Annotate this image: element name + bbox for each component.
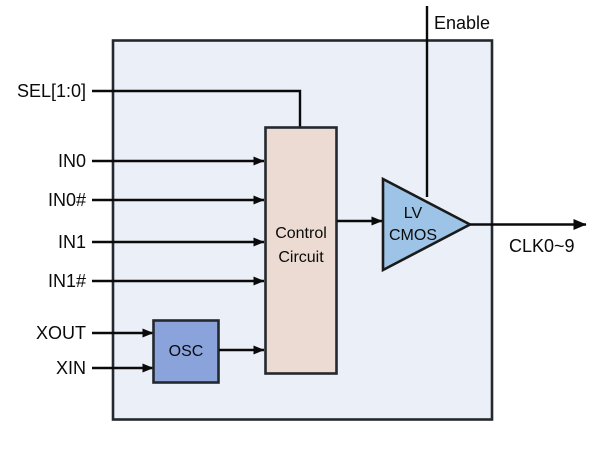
in1-label: IN1 xyxy=(58,232,86,252)
lv-cmos-label-line2: CMOS xyxy=(389,227,437,244)
block-diagram: Enable SEL[1:0] IN0 IN0# IN1 IN1# XOUT X… xyxy=(0,0,602,450)
osc-label: OSC xyxy=(169,343,204,360)
enable-label: Enable xyxy=(434,13,490,33)
diagram-canvas: Enable SEL[1:0] IN0 IN0# IN1 IN1# XOUT X… xyxy=(0,0,602,450)
in0-label: IN0 xyxy=(58,151,86,171)
in1n-label: IN1# xyxy=(48,271,86,291)
sel-label: SEL[1:0] xyxy=(17,81,86,101)
lv-cmos-label-line1: LV xyxy=(404,205,423,222)
clk-output-label: CLK0~9 xyxy=(509,236,575,256)
xout-label: XOUT xyxy=(36,323,86,343)
in0n-label: IN0# xyxy=(48,190,86,210)
xin-label: XIN xyxy=(56,358,86,378)
control-circuit-label-line2: Circuit xyxy=(278,249,324,266)
control-circuit-label-line1: Control xyxy=(275,225,327,242)
